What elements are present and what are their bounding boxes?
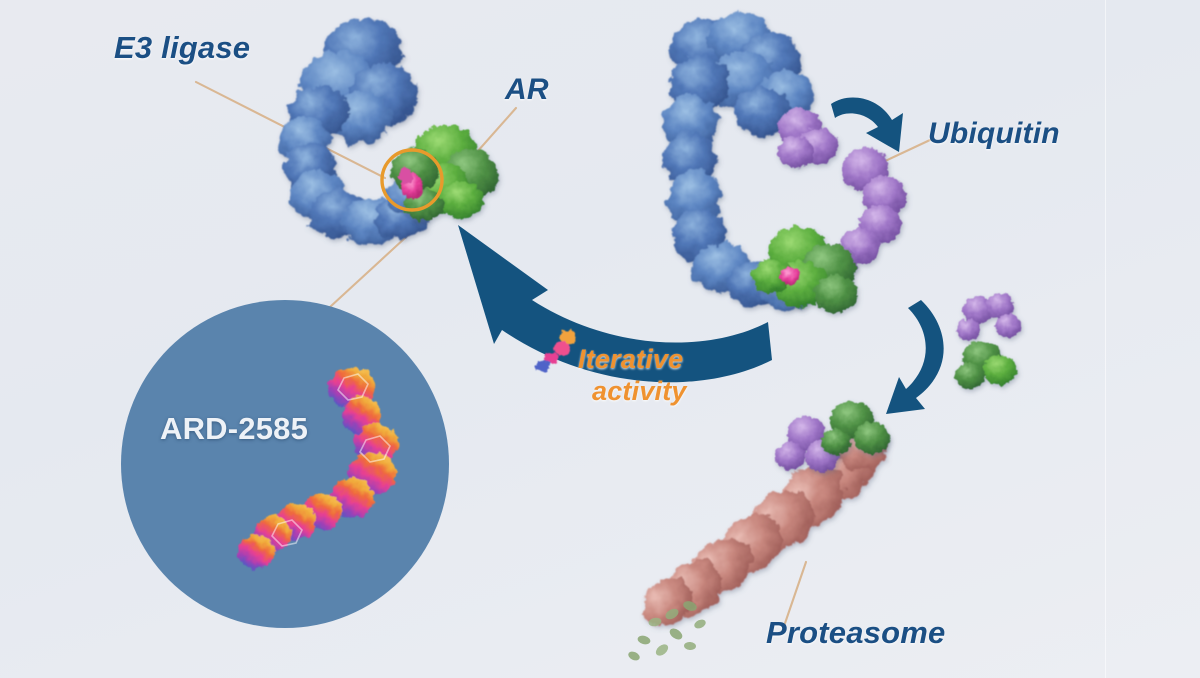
label-proteasome: Proteasome: [766, 617, 945, 650]
degrader-zoom-circle: [121, 300, 449, 628]
ubiquitin-transfer-arrow: [831, 97, 903, 152]
label-iterative-line2: activity: [592, 377, 687, 405]
label-e3-ligase: E3 ligase: [114, 32, 250, 65]
label-iterative-line1: Iterative: [578, 345, 683, 373]
ubiquitin-on-ligase: [778, 108, 838, 168]
proteasome: [634, 426, 888, 635]
label-ard-2585: ARD-2585: [160, 413, 308, 446]
label-ubiquitin: Ubiquitin: [928, 118, 1060, 150]
diagram-artwork: [0, 0, 1200, 678]
figure-canvas: E3 ligase AR Ubiquitin Iterative activit…: [0, 0, 1200, 678]
label-ar: AR: [505, 74, 549, 106]
ubiquitinated-ar: [955, 293, 1021, 389]
degrader-bound-right: [780, 267, 800, 285]
proteasome-delivery-arrow: [886, 300, 944, 414]
